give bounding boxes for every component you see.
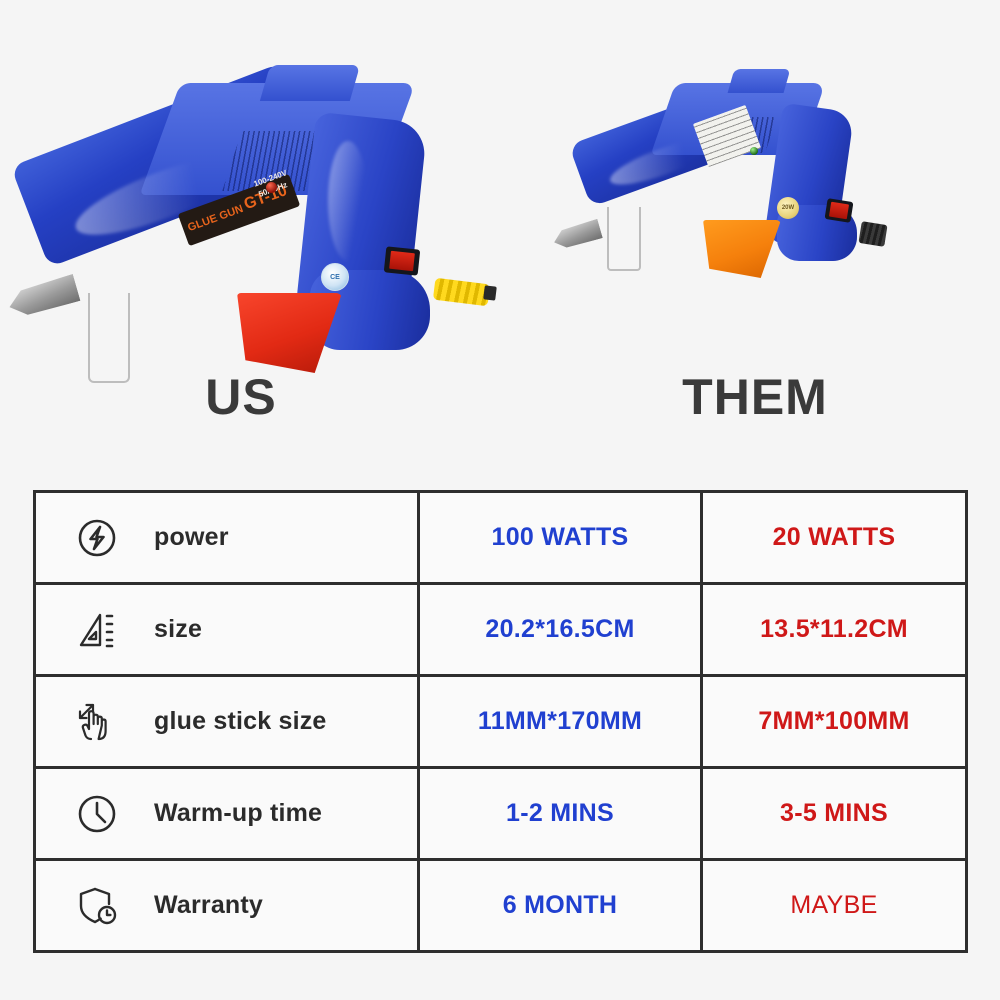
gun-label-brand: GLUE GUN <box>186 203 245 234</box>
value-us-warm-up-time: 1-2 MINS <box>419 768 702 860</box>
feature-label-warranty: Warranty <box>154 891 263 920</box>
shield-clock-icon <box>72 881 122 931</box>
gun-feed-cap <box>260 65 360 101</box>
value-them-power: 20 WATTS <box>702 492 967 584</box>
glue-gun-us-illustration: GLUE GUN GT-10 100-240V 50/60Hz CE <box>10 55 510 355</box>
feature-cell-glue-stick-size: glue stick size <box>35 676 419 768</box>
gun2-rating-sticker-text: 20W <box>782 205 794 211</box>
gun-gloss-highlight-handle <box>328 141 368 261</box>
gun2-trigger <box>703 220 781 278</box>
table-row: glue stick size 11MM*170MM 7MM*100MM <box>35 676 967 768</box>
product-image-them: 20W <box>545 55 965 355</box>
gun2-feed-cap <box>728 69 791 93</box>
feature-label-glue-stick-size: glue stick size <box>154 707 327 736</box>
gun-indicator-led <box>266 182 277 193</box>
feature-cell-warranty: Warranty <box>35 860 419 952</box>
value-them-warm-up-time: 3-5 MINS <box>702 768 967 860</box>
heading-them: THEM <box>640 372 870 422</box>
comparison-table: power 100 WATTS 20 WATTS size <box>33 490 968 953</box>
value-them-glue-stick-size: 7MM*100MM <box>702 676 967 768</box>
table-row: size 20.2*16.5CM 13.5*11.2CM <box>35 584 967 676</box>
gun2-indicator-led <box>750 147 758 155</box>
value-us-size: 20.2*16.5CM <box>419 584 702 676</box>
feature-label-power: power <box>154 523 229 552</box>
feature-cell-size: size <box>35 584 419 676</box>
gun-trigger <box>237 293 342 373</box>
pinch-resize-hand-icon <box>72 697 122 747</box>
product-image-us: GLUE GUN GT-10 100-240V 50/60Hz CE <box>10 55 510 355</box>
gun-cord-plug <box>483 285 497 300</box>
feature-cell-power: power <box>35 492 419 584</box>
gun-power-switch <box>384 246 421 275</box>
gun2-wire-stand <box>607 207 641 271</box>
gun2-rating-sticker: 20W <box>777 197 799 219</box>
heading-us: US <box>141 372 341 422</box>
gun2-cord-connector <box>858 221 887 247</box>
gun-nozzle <box>5 274 80 320</box>
gun-wire-stand <box>88 293 130 383</box>
feature-label-size: size <box>154 615 202 644</box>
value-us-power: 100 WATTS <box>419 492 702 584</box>
gun-cord-strain-relief <box>433 278 490 307</box>
feature-label-warm-up-time: Warm-up time <box>154 799 322 828</box>
value-them-warranty: MAYBE <box>702 860 967 952</box>
table-row: power 100 WATTS 20 WATTS <box>35 492 967 584</box>
comparison-table-body: power 100 WATTS 20 WATTS size <box>35 492 967 952</box>
product-showcase: GLUE GUN GT-10 100-240V 50/60Hz CE <box>0 0 1000 470</box>
feature-cell-warm-up-time: Warm-up time <box>35 768 419 860</box>
glue-gun-them-illustration: 20W <box>545 55 965 355</box>
value-us-glue-stick-size: 11MM*170MM <box>419 676 702 768</box>
ruler-triangle-icon <box>72 605 122 655</box>
gun2-power-switch <box>825 198 854 223</box>
table-row: Warranty 6 MONTH MAYBE <box>35 860 967 952</box>
gun-ce-sticker: CE <box>321 263 349 291</box>
table-row: Warm-up time 1-2 MINS 3-5 MINS <box>35 768 967 860</box>
power-bolt-icon <box>72 513 122 563</box>
clock-icon <box>72 789 122 839</box>
gun-ce-sticker-text: CE <box>330 274 340 281</box>
gun2-nozzle <box>551 219 603 251</box>
gun-power-switch-rocker <box>389 251 415 272</box>
gun2-power-switch-rocker <box>829 202 849 219</box>
value-us-warranty: 6 MONTH <box>419 860 702 952</box>
value-them-size: 13.5*11.2CM <box>702 584 967 676</box>
